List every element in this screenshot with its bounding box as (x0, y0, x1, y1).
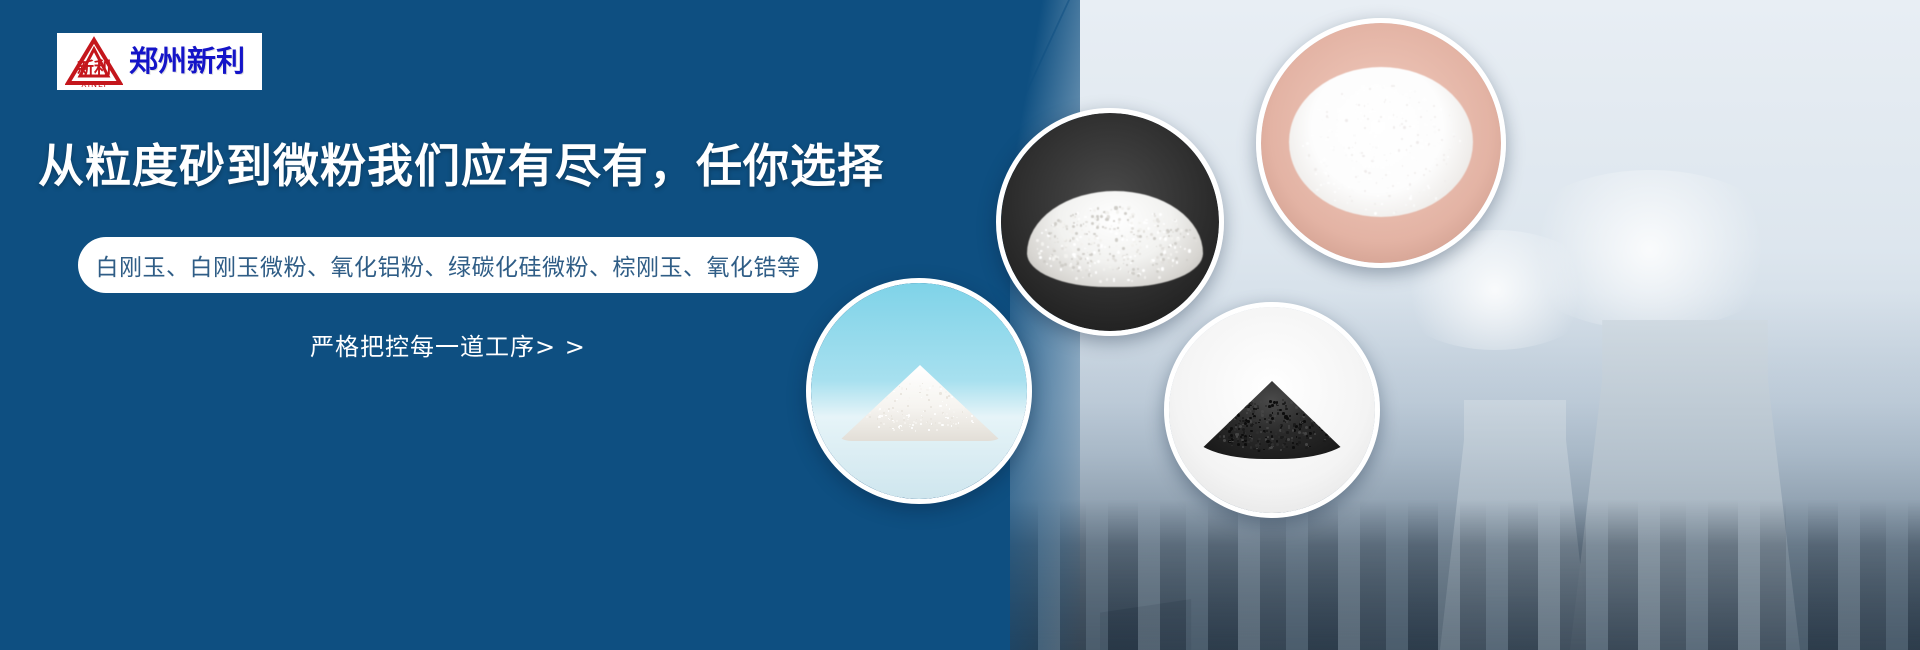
material-grain (1187, 233, 1189, 235)
material-grain (1110, 230, 1112, 232)
material-grain (1071, 258, 1073, 260)
tagline-link[interactable]: 严格把控每一道工序> > (78, 327, 818, 362)
material-grain (1328, 175, 1329, 176)
material-grain (1177, 228, 1179, 230)
material-grain (1125, 260, 1127, 262)
material-grain (921, 397, 922, 398)
material-grain (1299, 425, 1302, 428)
product-photo-white-powder-dish[interactable] (1256, 18, 1506, 268)
material-grain (1077, 248, 1080, 251)
material-grain (1319, 409, 1322, 412)
material-grain (1362, 117, 1363, 118)
material-grain (1280, 449, 1282, 451)
material-grain (1210, 428, 1213, 431)
material-grain (1240, 405, 1242, 407)
material-grain (1376, 182, 1377, 183)
material-grain (1170, 258, 1172, 260)
material-grain (1216, 437, 1219, 440)
material-grain (1238, 428, 1240, 430)
material-pile (1289, 67, 1473, 217)
material-grain (1357, 118, 1359, 120)
material-grain (1223, 408, 1226, 411)
material-grain (1402, 118, 1403, 119)
material-grain (1147, 227, 1150, 230)
material-grain (1134, 255, 1136, 257)
material-grain (922, 383, 923, 384)
material-grain (1327, 421, 1329, 423)
material-grain (1247, 418, 1249, 420)
material-grain (1374, 111, 1375, 112)
material-grain (1110, 214, 1112, 216)
material-grain (1369, 178, 1371, 180)
material-grain (1322, 416, 1324, 418)
material-grain (1099, 253, 1102, 256)
material-grain (1116, 245, 1118, 247)
material-grain (1137, 230, 1140, 233)
material-grain (952, 407, 954, 409)
material-grain (1332, 420, 1334, 422)
material-grain (1297, 444, 1299, 446)
material-grain (1258, 422, 1260, 424)
material-grain (1180, 233, 1181, 234)
material-grain (1053, 228, 1055, 230)
material-grain (1307, 413, 1309, 415)
material-grain (1253, 417, 1255, 419)
material-grain (1121, 238, 1123, 240)
material-grain (1411, 92, 1412, 93)
material-grain (1413, 204, 1415, 206)
material-grain (1105, 218, 1108, 221)
material-grain (1212, 420, 1214, 422)
material-grain (1322, 424, 1324, 426)
material-grain (1100, 244, 1103, 247)
material-grain (1089, 269, 1091, 271)
material-grain (1442, 193, 1445, 196)
material-grain (909, 383, 911, 385)
material-grain (1345, 154, 1347, 156)
material-grain (1362, 190, 1363, 191)
material-grain (948, 395, 950, 397)
material-grain (1153, 237, 1156, 240)
material-grain (942, 401, 943, 402)
material-grain (1246, 425, 1248, 427)
material-grain (909, 426, 911, 428)
material-grain (1418, 102, 1420, 104)
material-grain (1245, 404, 1248, 407)
material-grain (1164, 248, 1166, 250)
material-grain (915, 422, 917, 424)
material-grain (1328, 117, 1329, 118)
material-grain (979, 403, 981, 405)
material-grain (1157, 231, 1160, 234)
material-grain (1163, 223, 1165, 225)
material-grain (1374, 153, 1376, 155)
material-grain (1131, 244, 1134, 247)
material-grain (1094, 242, 1096, 244)
material-grain (1231, 439, 1234, 442)
material-grain (1261, 414, 1264, 417)
material-grain (1312, 405, 1315, 408)
material-grain (877, 391, 879, 393)
material-grain (1240, 436, 1242, 438)
material-pile (1191, 381, 1353, 459)
material-grain (1097, 244, 1100, 247)
material-grain (1038, 252, 1041, 255)
material-grain (1311, 158, 1313, 160)
material-grain (965, 395, 967, 397)
material-grain (1305, 447, 1308, 450)
material-grain (1274, 415, 1276, 417)
material-grain (1426, 110, 1428, 112)
material-grain (1393, 85, 1395, 87)
material-grain (1193, 237, 1196, 240)
product-list-text: 白刚玉、白刚玉微粉、氧化铝粉、绿碳化硅微粉、棕刚玉、氧化锆等 (96, 248, 801, 282)
material-grain (953, 416, 954, 417)
material-grain (1388, 116, 1391, 119)
material-grain (1326, 103, 1328, 105)
material-grain (1331, 418, 1333, 420)
material-grain (883, 412, 885, 414)
material-grain (1318, 420, 1320, 422)
material-grain (1357, 175, 1359, 177)
material-grain (1391, 85, 1393, 87)
material-grain (1057, 241, 1059, 243)
material-grain (1111, 225, 1113, 227)
material-grain (1272, 412, 1274, 414)
material-grain (1405, 120, 1407, 122)
material-grain (1113, 278, 1115, 280)
xinli-triangle-icon: 新利 XINLI (65, 36, 123, 88)
material-grain (1237, 410, 1239, 412)
material-grain (1186, 259, 1188, 261)
material-grain (869, 412, 871, 414)
material-grain (1436, 164, 1438, 166)
material-grain (1381, 203, 1383, 205)
material-grain (1072, 249, 1075, 252)
material-grain (1130, 222, 1133, 225)
material-grain (1430, 169, 1431, 170)
material-grain (1269, 421, 1272, 424)
material-grain (1127, 219, 1128, 220)
material-grain (1401, 123, 1403, 125)
material-grain (1081, 229, 1082, 230)
material-grain (1154, 257, 1156, 259)
material-grain (888, 408, 890, 410)
material-grain (1220, 414, 1223, 417)
material-grain (1393, 212, 1395, 214)
material-grain (1423, 98, 1426, 101)
material-grain (1378, 121, 1380, 123)
material-grain (1250, 439, 1253, 442)
material-grain (1315, 173, 1317, 175)
material-grain (1398, 149, 1400, 151)
material-grain (1290, 401, 1293, 404)
material-grain (1117, 227, 1119, 229)
material-grain (1099, 280, 1102, 283)
material-grain (1250, 446, 1252, 448)
material-grain (1250, 410, 1252, 412)
material-grain (1328, 414, 1331, 417)
material-grain (1360, 120, 1362, 122)
material-grain (1362, 155, 1364, 157)
material-grain (1380, 116, 1382, 118)
material-grain (1377, 195, 1379, 197)
company-logo[interactable]: 新利 XINLI 郑州新利 (57, 33, 262, 90)
material-grain (1113, 220, 1115, 222)
material-grain (1381, 166, 1383, 168)
material-grain (1082, 277, 1084, 279)
material-grain (1332, 149, 1334, 151)
material-grain (974, 414, 976, 416)
material-grain (907, 400, 909, 402)
material-grain (1086, 257, 1089, 260)
material-grain (1072, 241, 1074, 243)
material-grain (1364, 165, 1366, 167)
material-grain (1343, 97, 1344, 98)
material-grain (900, 393, 902, 395)
material-grain (1104, 227, 1106, 229)
material-grain (1444, 180, 1446, 182)
material-grain (1051, 232, 1053, 234)
material-grain (1334, 200, 1335, 201)
material-grain (877, 418, 879, 420)
material-grain (1263, 449, 1265, 451)
material-grain (1052, 224, 1054, 226)
material-grain (904, 422, 906, 424)
material-grain (1228, 430, 1231, 433)
material-grain (868, 408, 870, 410)
material-grain (1329, 424, 1331, 426)
material-grain (861, 407, 863, 409)
material-grain (1327, 182, 1330, 185)
material-grain (1274, 420, 1276, 422)
material-grain (939, 392, 941, 394)
material-grain (1234, 429, 1236, 431)
material-grain (1246, 412, 1248, 414)
material-grain (1119, 230, 1121, 232)
material-grain (1093, 251, 1096, 254)
material-grain (1247, 420, 1250, 423)
material-grain (1309, 437, 1311, 439)
material-grain (1136, 244, 1138, 246)
material-grain (1387, 187, 1389, 189)
material-grain (1072, 216, 1075, 219)
material-grain (1412, 157, 1414, 159)
material-grain (1165, 254, 1167, 256)
material-grain (1043, 251, 1046, 254)
material-grain (894, 400, 896, 402)
material-grain (1084, 216, 1086, 218)
material-grain (1103, 259, 1105, 261)
material-grain (1170, 253, 1172, 255)
material-grain (1450, 122, 1452, 124)
material-grain (886, 393, 888, 395)
material-grain (1284, 415, 1287, 418)
material-grain (1155, 264, 1157, 266)
material-grain (958, 405, 960, 407)
material-grain (1430, 119, 1432, 121)
material-grain (1163, 231, 1165, 233)
material-grain (1353, 168, 1354, 169)
material-grain (1088, 238, 1090, 240)
material-grain (1300, 417, 1302, 419)
material-grain (1054, 242, 1056, 244)
material-grain (901, 387, 903, 389)
material-grain (1382, 178, 1383, 179)
material-grain (1171, 237, 1174, 240)
material-grain (886, 397, 888, 399)
material-grain (1331, 424, 1334, 427)
material-grain (1409, 126, 1411, 128)
material-grain (1133, 234, 1134, 235)
material-grain (1105, 211, 1108, 214)
material-grain (1352, 148, 1354, 150)
material-grain (1245, 432, 1247, 434)
material-grain (921, 415, 922, 416)
headline: 从粒度砂到微粉我们应有尽有，任你选择 (38, 140, 968, 193)
material-grain (1345, 119, 1348, 122)
material-grain (973, 400, 975, 402)
material-grain (1372, 86, 1374, 88)
material-grain (1254, 405, 1257, 408)
material-grain (1364, 105, 1366, 107)
material-grain (1079, 236, 1081, 238)
material-grain (1089, 208, 1092, 211)
material-grain (1313, 417, 1315, 419)
material-grain (1428, 195, 1429, 196)
material-grain (888, 410, 889, 411)
material-grain (923, 411, 924, 412)
material-grain (1318, 408, 1320, 410)
material-grain (1317, 406, 1319, 408)
material-grain (883, 423, 885, 425)
material-grain (1334, 427, 1336, 429)
material-grain (1275, 433, 1277, 435)
material-grain (1435, 197, 1437, 199)
material-grain (1113, 280, 1115, 282)
material-grain (1249, 435, 1251, 437)
material-grain (1439, 194, 1440, 195)
material-grain (1306, 142, 1309, 145)
material-grain (1288, 427, 1290, 429)
material-grain (1428, 143, 1430, 145)
material-grain (1215, 423, 1218, 426)
material-grain (1129, 216, 1132, 219)
material-grain (1395, 152, 1397, 154)
material-grain (1043, 260, 1045, 262)
material-grain (1423, 174, 1425, 176)
material-grain (1372, 110, 1373, 111)
material-grain (1175, 257, 1178, 260)
material-grain (1323, 162, 1325, 164)
material-grain (1407, 175, 1408, 176)
material-grain (946, 404, 948, 406)
material-grain (962, 388, 964, 390)
product-photo-white-powder-dish-image (1261, 23, 1501, 263)
material-grain (1060, 225, 1063, 228)
material-grain (1378, 119, 1380, 121)
material-grain (970, 391, 972, 393)
material-grain (907, 419, 909, 421)
material-grain (939, 386, 941, 388)
material-grain (1156, 218, 1159, 221)
material-grain (1382, 115, 1384, 117)
material-pile (839, 365, 1001, 441)
material-grain (1175, 251, 1177, 253)
material-grain (1132, 272, 1135, 275)
material-grain (1232, 411, 1234, 413)
material-grain (919, 385, 921, 387)
material-grain (1250, 424, 1253, 427)
material-grain (1237, 433, 1239, 435)
product-photo-white-grit[interactable] (996, 108, 1224, 336)
material-grain (1223, 418, 1226, 421)
material-grain (967, 400, 968, 401)
material-grain (1263, 430, 1265, 432)
material-grain (1374, 203, 1376, 205)
material-grain (1273, 446, 1275, 448)
material-grain (977, 409, 979, 411)
material-grain (947, 417, 949, 419)
material-grain (1358, 104, 1360, 106)
material-grain (916, 419, 917, 420)
material-grain (957, 427, 959, 429)
material-grain (1123, 256, 1126, 259)
product-photo-powder-cone-cyan[interactable] (806, 278, 1032, 504)
material-grain (1046, 263, 1049, 266)
material-grain (1221, 410, 1223, 412)
material-grain (1217, 412, 1219, 414)
material-grain (1434, 131, 1435, 132)
material-grain (1159, 230, 1161, 232)
material-grain (1238, 421, 1240, 423)
material-grain (1369, 131, 1371, 133)
material-grain (1096, 226, 1099, 229)
material-grain (1176, 261, 1179, 264)
material-grain (1393, 114, 1394, 115)
material-grain (1380, 103, 1382, 105)
material-grain (1243, 431, 1246, 434)
product-photo-black-grit-cone[interactable] (1164, 302, 1380, 518)
material-grain (1323, 183, 1325, 185)
material-grain (1056, 258, 1058, 260)
material-grain (1139, 253, 1141, 255)
material-grain (1375, 85, 1377, 87)
material-grain (1296, 413, 1298, 415)
material-grain (928, 394, 929, 395)
material-grain (1072, 253, 1075, 256)
material-grain (1085, 269, 1088, 272)
material-grain (1311, 420, 1313, 422)
material-grain (1086, 233, 1088, 235)
material-grain (1077, 262, 1080, 265)
material-grain (1344, 95, 1346, 97)
material-grain (1319, 425, 1321, 427)
material-grain (1057, 238, 1059, 240)
material-grain (1239, 401, 1241, 403)
material-grain (1170, 229, 1171, 230)
material-grain (1328, 424, 1331, 427)
material-grain (1227, 411, 1230, 414)
material-grain (1301, 403, 1303, 405)
material-grain (1253, 448, 1255, 450)
material-grain (893, 429, 895, 431)
material-grain (1130, 259, 1132, 261)
material-grain (1390, 153, 1391, 154)
material-grain (1073, 237, 1075, 239)
material-grain (1317, 170, 1319, 172)
material-grain (1362, 86, 1364, 88)
